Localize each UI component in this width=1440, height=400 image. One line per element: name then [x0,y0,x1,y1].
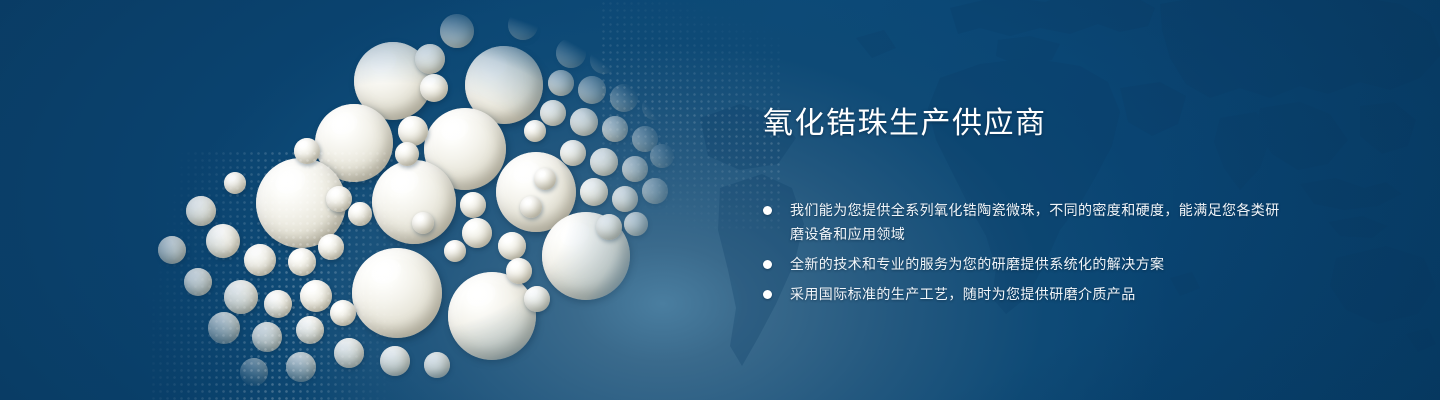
bullet-dot-icon [763,290,772,299]
feature-list: 我们能为您提供全系列氧化锆陶瓷微珠，不同的密度和硬度，能满足您各类研磨设备和应用… [763,198,1283,306]
hero-banner: 氧化锆珠生产供应商 我们能为您提供全系列氧化锆陶瓷微珠，不同的密度和硬度，能满足… [0,0,1440,400]
list-item-label: 采用国际标准的生产工艺，随时为您提供研磨介质产品 [790,286,1136,302]
bullet-dot-icon [763,260,772,269]
bullet-dot-icon [763,206,772,215]
list-item: 采用国际标准的生产工艺，随时为您提供研磨介质产品 [763,282,1283,306]
banner-copy: 氧化锆珠生产供应商 我们能为您提供全系列氧化锆陶瓷微珠，不同的密度和硬度，能满足… [763,104,1283,306]
list-item: 全新的技术和专业的服务为您的研磨提供系统化的解决方案 [763,252,1283,276]
list-item-label: 全新的技术和专业的服务为您的研磨提供系统化的解决方案 [790,256,1164,272]
page-title: 氧化锆珠生产供应商 [763,104,1283,144]
list-item: 我们能为您提供全系列氧化锆陶瓷微珠，不同的密度和硬度，能满足您各类研磨设备和应用… [763,198,1283,246]
list-item-label: 我们能为您提供全系列氧化锆陶瓷微珠，不同的密度和硬度，能满足您各类研磨设备和应用… [790,202,1280,242]
